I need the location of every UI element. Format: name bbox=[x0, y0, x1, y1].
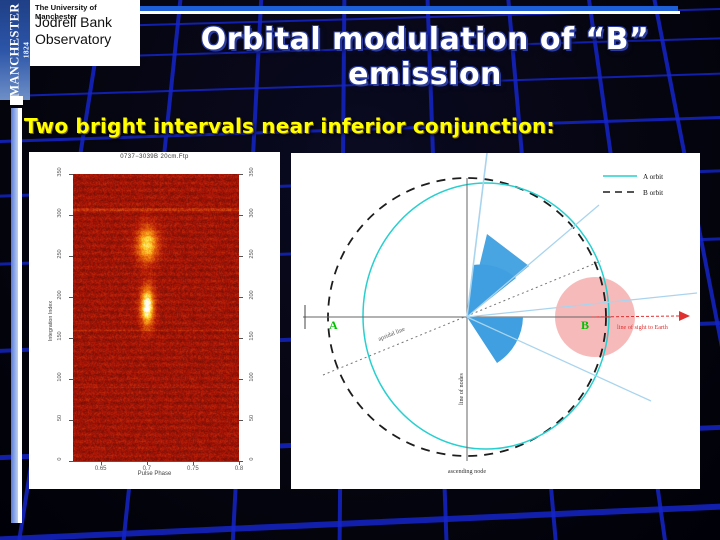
line-of-sight-arrowhead bbox=[679, 311, 690, 321]
slide-root: MANCHESTER 1824 The University of Manche… bbox=[0, 0, 720, 540]
slide-subtitle: Two bright intervals near inferior conju… bbox=[24, 114, 555, 138]
logo-manchester-text: MANCHESTER bbox=[8, 3, 23, 97]
logo-white-box: The University of Manchester Jodrell Ban… bbox=[30, 0, 140, 66]
heatmap-ytick: 250 bbox=[249, 245, 255, 263]
figure-pulse-phase-heatmap: 0737−3039B 20cm.Ftp Integration Index Bi… bbox=[29, 152, 280, 489]
label-line-of-sight: line of sight to Earth bbox=[617, 324, 669, 331]
heatmap-ytick-mark bbox=[69, 420, 73, 421]
sidebar-strip-white bbox=[18, 108, 22, 523]
logo-manchester-bar: MANCHESTER 1824 bbox=[0, 0, 30, 100]
sidebar-strip-cap bbox=[10, 96, 23, 105]
heatmap-ytick-mark bbox=[239, 174, 243, 175]
logo-line2: Jodrell Bank bbox=[35, 14, 112, 31]
label-line-of-nodes: line of nodes bbox=[458, 372, 465, 405]
heatmap-ytick-mark bbox=[239, 379, 243, 380]
heatmap-ytick: 300 bbox=[249, 204, 255, 222]
heatmap-ytick: 50 bbox=[249, 409, 255, 427]
heatmap-plot-area bbox=[73, 174, 239, 461]
heatmap-ytick-mark bbox=[239, 256, 243, 257]
heatmap-ytick: 0 bbox=[57, 450, 63, 468]
heatmap-ytick-mark bbox=[239, 215, 243, 216]
heatmap-ylabel-left: Integration Index bbox=[48, 300, 54, 340]
heatmap-ytick-mark bbox=[239, 338, 243, 339]
heatmap-ytick: 300 bbox=[57, 204, 63, 222]
sidebar-strip-blue bbox=[11, 108, 18, 523]
figure-orbit-geometry: A B line of sight to Earth apsidal line … bbox=[291, 153, 700, 489]
jodrell-bank-logo: MANCHESTER 1824 The University of Manche… bbox=[0, 0, 140, 66]
heatmap-ytick-mark bbox=[239, 420, 243, 421]
heatmap-ytick-mark bbox=[69, 256, 73, 257]
emission-beam-lower bbox=[467, 317, 523, 363]
heatmap-ytick: 150 bbox=[57, 327, 63, 345]
heatmap-ytick-mark bbox=[69, 338, 73, 339]
heatmap-ytick: 100 bbox=[57, 368, 63, 386]
heatmap-ytick-mark bbox=[69, 297, 73, 298]
heatmap-ytick: 0 bbox=[249, 450, 255, 468]
heatmap-ytick: 100 bbox=[249, 368, 255, 386]
heatmap-canvas bbox=[73, 174, 239, 461]
heatmap-ytick: 150 bbox=[249, 327, 255, 345]
heatmap-ytick: 50 bbox=[57, 409, 63, 427]
legend: A orbit B orbit bbox=[603, 173, 663, 197]
header-rule-white bbox=[118, 11, 680, 14]
heatmap-ytick: 250 bbox=[57, 245, 63, 263]
label-a: A bbox=[329, 318, 338, 332]
heatmap-ytick: 200 bbox=[57, 286, 63, 304]
label-ascending-node: ascending node bbox=[448, 468, 487, 475]
heatmap-ytick-mark bbox=[239, 297, 243, 298]
heatmap-ytick-mark bbox=[69, 215, 73, 216]
heatmap-xtick-mark bbox=[239, 461, 240, 465]
heatmap-ytick-mark bbox=[69, 379, 73, 380]
label-apsidal-line: apsidal line bbox=[377, 326, 406, 343]
heatmap-ytick: 350 bbox=[249, 163, 255, 181]
page-title: Orbital modulation of “B” emission bbox=[140, 22, 710, 92]
legend-label-a-orbit: A orbit bbox=[643, 173, 663, 181]
label-b: B bbox=[581, 318, 589, 332]
legend-label-b-orbit: B orbit bbox=[643, 189, 663, 197]
heatmap-ytick-mark bbox=[69, 174, 73, 175]
heatmap-x-axis-line bbox=[73, 461, 239, 462]
logo-line3: Observatory bbox=[35, 31, 111, 48]
heatmap-xlabel: Pulse Phase bbox=[29, 471, 280, 477]
orbit-diagram-svg: A B line of sight to Earth apsidal line … bbox=[291, 153, 700, 489]
heatmap-ytick: 350 bbox=[57, 163, 63, 181]
heatmap-title: 0737−3039B 20cm.Ftp bbox=[29, 154, 280, 160]
heatmap-ytick: 200 bbox=[249, 286, 255, 304]
